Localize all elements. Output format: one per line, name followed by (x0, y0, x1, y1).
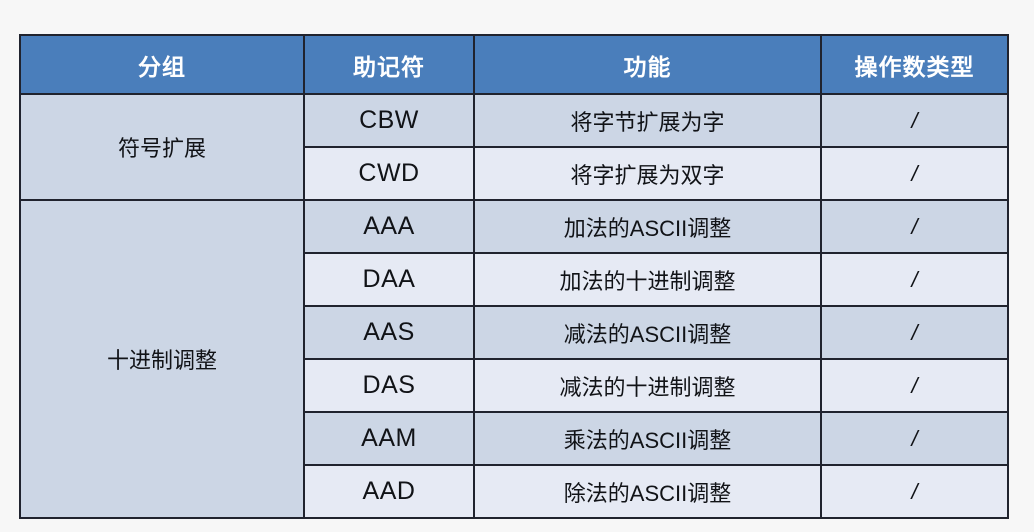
function-cell: 减法的ASCII调整 (474, 306, 821, 359)
mnemonic-cell: AAD (304, 465, 474, 518)
mnemonic-cell: CWD (304, 147, 474, 200)
function-cell: 将字节扩展为字 (474, 94, 821, 147)
function-cell: 减法的十进制调整 (474, 359, 821, 412)
function-cell: 乘法的ASCII调整 (474, 412, 821, 465)
function-cell: 除法的ASCII调整 (474, 465, 821, 518)
group-cell-decimal-adjust: 十进制调整 (20, 200, 304, 518)
table-header: 分组 助记符 功能 操作数类型 (20, 35, 1008, 94)
instruction-table-container: 分组 助记符 功能 操作数类型 符号扩展 CBW 将字节扩展为字 / CWD 将… (19, 34, 1007, 497)
mnemonic-cell: AAM (304, 412, 474, 465)
header-row: 分组 助记符 功能 操作数类型 (20, 35, 1008, 94)
table-body: 符号扩展 CBW 将字节扩展为字 / CWD 将字扩展为双字 / 十进制调整 A… (20, 94, 1008, 518)
group-cell-sign-extension: 符号扩展 (20, 94, 304, 200)
column-header-group: 分组 (20, 35, 304, 94)
mnemonic-cell: AAS (304, 306, 474, 359)
table-row: 十进制调整 AAA 加法的ASCII调整 / (20, 200, 1008, 253)
operand-type-cell: / (821, 306, 1008, 359)
operand-type-cell: / (821, 94, 1008, 147)
operand-type-cell: / (821, 359, 1008, 412)
mnemonic-cell: DAA (304, 253, 474, 306)
function-cell: 将字扩展为双字 (474, 147, 821, 200)
operand-type-cell: / (821, 200, 1008, 253)
column-header-operand-type: 操作数类型 (821, 35, 1008, 94)
function-cell: 加法的ASCII调整 (474, 200, 821, 253)
operand-type-cell: / (821, 253, 1008, 306)
function-cell: 加法的十进制调整 (474, 253, 821, 306)
operand-type-cell: / (821, 147, 1008, 200)
mnemonic-cell: DAS (304, 359, 474, 412)
operand-type-cell: / (821, 412, 1008, 465)
column-header-mnemonic: 助记符 (304, 35, 474, 94)
mnemonic-cell: CBW (304, 94, 474, 147)
instruction-table: 分组 助记符 功能 操作数类型 符号扩展 CBW 将字节扩展为字 / CWD 将… (19, 34, 1009, 519)
column-header-function: 功能 (474, 35, 821, 94)
mnemonic-cell: AAA (304, 200, 474, 253)
operand-type-cell: / (821, 465, 1008, 518)
table-row: 符号扩展 CBW 将字节扩展为字 / (20, 94, 1008, 147)
